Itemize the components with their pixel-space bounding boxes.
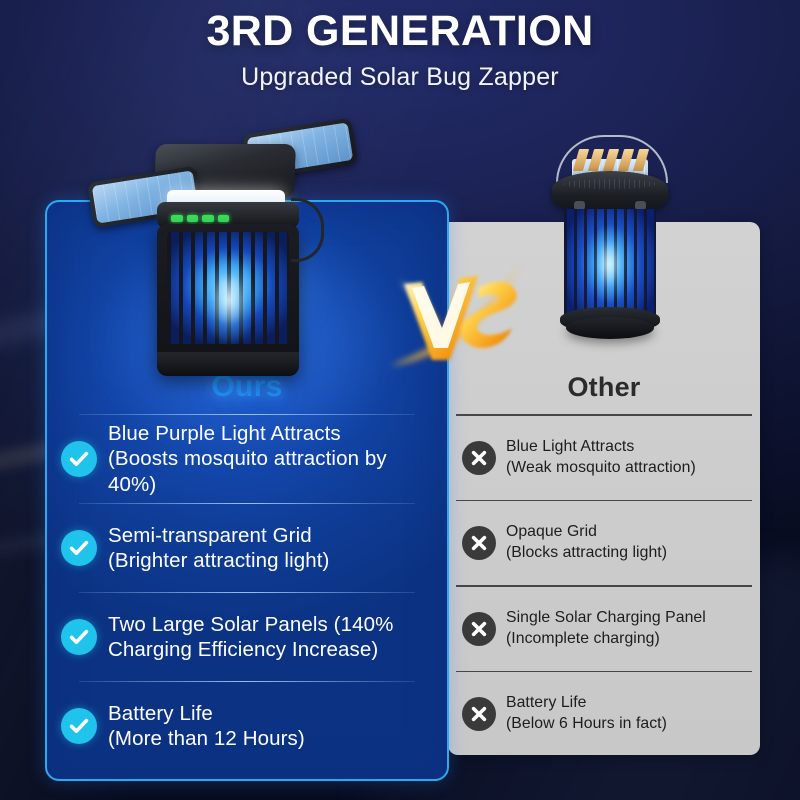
page-subtitle: Upgraded Solar Bug Zapper [0,63,800,92]
list-item[interactable]: Two Large Solar Panels (140% Charging Ef… [47,593,447,681]
cross-icon [462,526,496,560]
page-title: 3RD GENERATION [0,8,800,54]
list-item[interactable]: Semi-transparent Grid(Brighter attractin… [47,504,447,592]
list-item-label: Two Large Solar Panels (140% Charging Ef… [108,612,431,663]
list-item[interactable]: Blue Purple Light Attracts(Boosts mosqui… [47,415,447,503]
list-item[interactable]: Opaque Grid(Blocks attracting light) [448,501,760,585]
ours-feature-list: Blue Purple Light Attracts(Boosts mosqui… [47,414,447,770]
check-icon [61,441,97,477]
vent-slots [564,179,656,189]
top-pins [573,149,649,171]
other-title: Other [448,372,760,403]
zapper-grid [564,209,656,319]
list-item[interactable]: Single Solar Charging Panel(Incomplete c… [448,587,760,671]
battery-indicator-leds [171,215,229,222]
list-item-label: Single Solar Charging Panel(Incomplete c… [506,608,706,649]
list-divider [456,585,752,587]
other-feature-list: Blue Light Attracts(Weak mosquito attrac… [448,414,760,755]
uv-core-light [586,215,632,313]
check-icon [61,708,97,744]
infographic-canvas: 3RD GENERATION Upgraded Solar Bug Zapper… [0,0,800,800]
other-product-image [530,135,690,355]
list-item-label: Blue Purple Light Attracts(Boosts mosqui… [108,421,431,497]
list-item-label: Battery Life(Below 6 Hours in fact) [506,693,667,734]
device-base [157,352,299,376]
cross-icon [462,441,496,475]
list-item[interactable]: Battery Life(More than 12 Hours) [47,682,447,770]
electric-spark [191,240,267,360]
list-item-label: Blue Light Attracts(Weak mosquito attrac… [506,437,696,478]
list-item[interactable]: Battery Life(Below 6 Hours in fact) [448,672,760,755]
ours-product-image [95,120,395,385]
cross-icon [462,697,496,731]
device-foot [566,317,654,339]
check-icon [61,619,97,655]
list-item-label: Battery Life(More than 12 Hours) [108,701,305,752]
list-item[interactable]: Blue Light Attracts(Weak mosquito attrac… [448,416,760,500]
check-icon [61,530,97,566]
header: 3RD GENERATION Upgraded Solar Bug Zapper [0,8,800,92]
list-item-label: Semi-transparent Grid(Brighter attractin… [108,523,329,574]
cross-icon [462,612,496,646]
list-item-label: Opaque Grid(Blocks attracting light) [506,522,667,563]
list-divider [456,671,752,673]
list-divider [456,414,752,416]
list-divider [456,500,752,502]
